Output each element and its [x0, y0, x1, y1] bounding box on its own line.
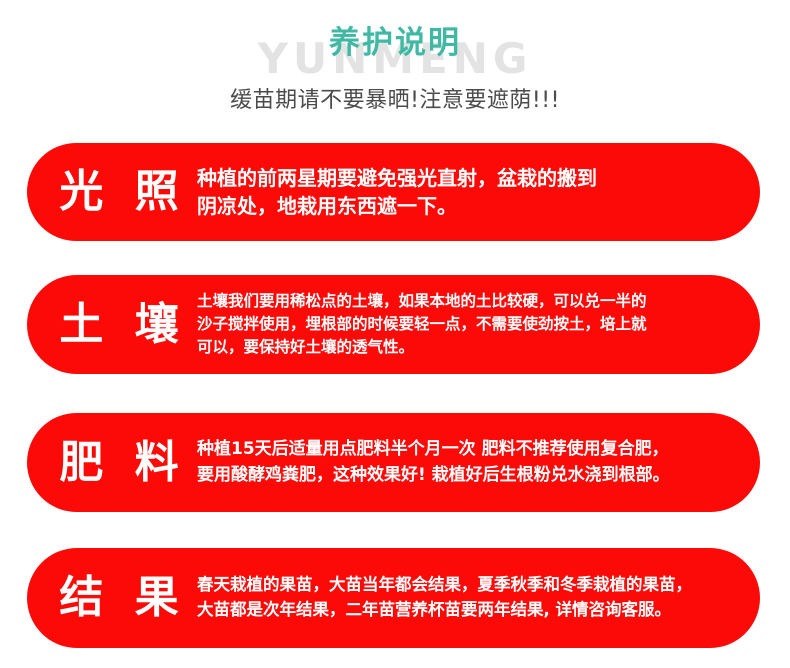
page-subtitle: 缓苗期请不要暴晒!注意要遮荫!!!	[0, 88, 790, 114]
section-body-soil: 土壤我们要用稀松点的土壤，如果本地的土比较硬，可以兑一半的 沙子搅拌使用，埋根部…	[197, 290, 742, 359]
section-label-soil: 土 壤	[49, 303, 197, 347]
section-label-fertilizer: 肥 料	[49, 441, 197, 485]
section-line: 大苗都是次年结果，二年苗营养杯苗要两年结果, 详情咨询客服。	[197, 598, 738, 623]
care-section-soil: 土 壤 土壤我们要用稀松点的土壤，如果本地的土比较硬，可以兑一半的 沙子搅拌使用…	[27, 275, 760, 374]
section-line: 土壤我们要用稀松点的土壤，如果本地的土比较硬，可以兑一半的	[197, 290, 738, 313]
section-line: 种植的前两星期要避免强光直射，盆栽的搬到	[197, 164, 738, 192]
section-line: 沙子搅拌使用，埋根部的时候要轻一点，不需要使劲按土，培上就	[197, 313, 738, 336]
section-body-fruiting: 春天栽植的果苗，大苗当年都会结果，夏季秋季和冬季栽植的果苗， 大苗都是次年结果，…	[197, 573, 742, 623]
section-line: 种植15天后适量用点肥料半个月一次 肥料不推荐使用复合肥，	[197, 437, 738, 463]
page-header: YUNMENG 养护说明 缓苗期请不要暴晒!注意要遮荫!!!	[0, 0, 790, 130]
title-stack: YUNMENG 养护说明	[0, 12, 790, 82]
care-section-fertilizer: 肥 料 种植15天后适量用点肥料半个月一次 肥料不推荐使用复合肥， 要用酸酵鸡粪…	[27, 413, 760, 512]
care-section-fruiting: 结 果 春天栽植的果苗，大苗当年都会结果，夏季秋季和冬季栽植的果苗， 大苗都是次…	[27, 548, 760, 648]
section-body-fertilizer: 种植15天后适量用点肥料半个月一次 肥料不推荐使用复合肥， 要用酸酵鸡粪肥，这种…	[197, 437, 742, 488]
section-body-light: 种植的前两星期要避免强光直射，盆栽的搬到 阴凉处，地栽用东西遮一下。	[197, 164, 742, 221]
care-section-light: 光 照 种植的前两星期要避免强光直射，盆栽的搬到 阴凉处，地栽用东西遮一下。	[27, 143, 760, 241]
section-line: 春天栽植的果苗，大苗当年都会结果，夏季秋季和冬季栽植的果苗，	[197, 573, 738, 598]
section-label-light: 光 照	[49, 170, 197, 214]
page-title: 养护说明	[0, 26, 790, 60]
section-line: 要用酸酵鸡粪肥，这种效果好! 栽植好后生根粉兑水浇到根部。	[197, 463, 738, 489]
section-label-fruiting: 结 果	[49, 576, 197, 620]
section-line: 阴凉处，地栽用东西遮一下。	[197, 192, 738, 220]
section-line: 可以，要保持好土壤的透气性。	[197, 336, 738, 359]
care-instructions-page: YUNMENG 养护说明 缓苗期请不要暴晒!注意要遮荫!!! 光 照 种植的前两…	[0, 0, 790, 668]
